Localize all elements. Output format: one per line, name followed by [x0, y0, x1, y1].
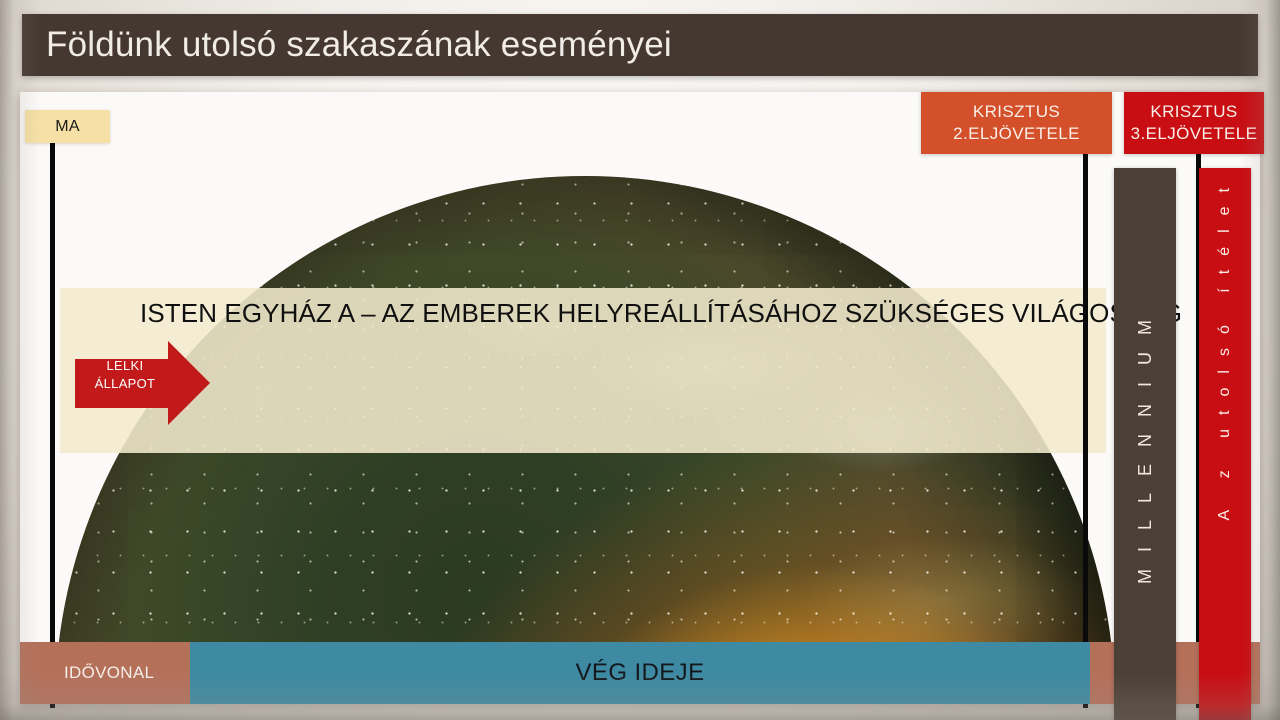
second-coming-line1: KRISZTUS [973, 101, 1060, 123]
event-third-coming-box: KRISZTUS 3.ELJÖVETELE [1124, 92, 1264, 154]
slide-title-bar: Földünk utolsó szakaszának eseményei [22, 14, 1258, 76]
third-coming-line2: 3.ELJÖVETELE [1131, 123, 1258, 145]
event-second-coming-box: KRISZTUS 2.ELJÖVETELE [921, 92, 1112, 154]
footer-end-time-label: VÉG IDEJE [190, 642, 1090, 704]
second-coming-line2: 2.ELJÖVETELE [953, 123, 1080, 145]
arrow-label-line1: LELKI [75, 357, 175, 375]
diagram-frame: ISTEN EGYHÁZ A – AZ EMBEREK HELYREÁLLÍTÁ… [20, 92, 1260, 704]
main-statement-text: ISTEN EGYHÁZ A – AZ EMBEREK HELYREÁLLÍTÁ… [140, 298, 1100, 329]
presentation-slide: Földünk utolsó szakaszának eseményei IST… [0, 0, 1280, 720]
third-coming-line1: KRISZTUS [1150, 101, 1237, 123]
millennium-column: MILLENNIUM [1114, 168, 1176, 720]
timeline-footer-bar: IDŐVONAL VÉG IDEJE [20, 642, 1260, 704]
last-judgement-column-label: A z utolsó ítélet [1217, 174, 1233, 521]
timeline-marker-line-now [50, 143, 55, 708]
arrow-label: LELKI ÁLLAPOT [75, 357, 175, 393]
arrow-label-line2: ÁLLAPOT [75, 375, 175, 393]
spiritual-state-arrow: LELKI ÁLLAPOT [75, 341, 210, 426]
timeline-marker-line-second-coming [1083, 143, 1088, 708]
page-title: Földünk utolsó szakaszának eseményei [22, 25, 672, 65]
footer-timeline-label: IDŐVONAL [20, 642, 190, 704]
millennium-column-label: MILLENNIUM [1136, 303, 1154, 584]
now-marker-badge: MA [25, 110, 110, 143]
last-judgement-column: A z utolsó ítélet [1199, 168, 1251, 720]
